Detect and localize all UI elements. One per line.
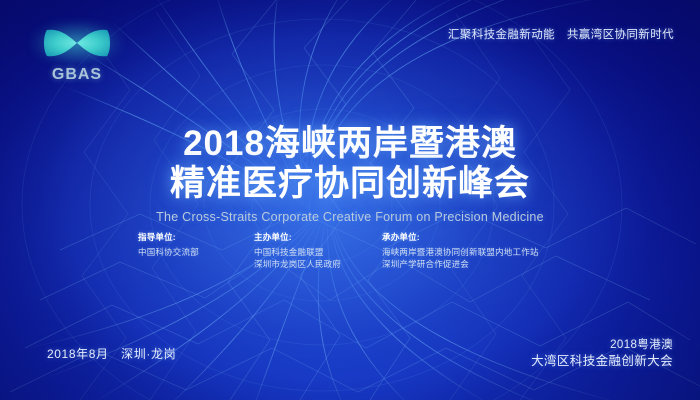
- footer-event-line-2: 大湾区科技金融创新大会: [531, 353, 673, 370]
- organizer-heading: 主办单位:: [254, 231, 382, 243]
- organizer-heading: 指导单位:: [138, 231, 254, 243]
- organizer-column-undertaker: 承办单位: 海峡两岸暨港澳协同创新联盟内地工作站 深圳产学研合作促进会: [382, 231, 539, 270]
- organizer-item: 深圳市龙岗区人民政府: [254, 258, 382, 270]
- title-block: 2018海峡两岸暨港澳 精准医疗协同创新峰会 The Cross-Straits…: [0, 124, 700, 224]
- organizer-column-host: 主办单位: 中国科技金融联盟 深圳市龙岗区人民政府: [254, 231, 382, 270]
- subtitle-english: The Cross-Straits Corporate Creative For…: [0, 210, 700, 224]
- organizer-item: 深圳产学研合作促进会: [382, 258, 539, 270]
- organizers-row: 指导单位: 中国科协交流部 主办单位: 中国科技金融联盟 深圳市龙岗区人民政府 …: [138, 231, 539, 270]
- slogan-text: 汇聚科技金融新动能 共赢湾区协同新时代: [448, 26, 674, 42]
- organizer-heading: 承办单位:: [382, 231, 539, 243]
- title-line-1: 2018海峡两岸暨港澳: [0, 124, 700, 164]
- gbas-logo: GBAS: [31, 22, 123, 84]
- organizer-item: 海峡两岸暨港澳协同创新联盟内地工作站: [382, 246, 539, 258]
- conference-poster: GBAS 汇聚科技金融新动能 共赢湾区协同新时代 2018海峡两岸暨港澳 精准医…: [0, 0, 700, 400]
- title-line-2: 精准医疗协同创新峰会: [0, 164, 700, 204]
- bowtie-infinity-icon: [31, 22, 123, 64]
- footer-event-name: 2018粤港澳 大湾区科技金融创新大会: [531, 337, 673, 370]
- organizer-column-guidance: 指导单位: 中国科协交流部: [138, 231, 254, 270]
- organizer-item: 中国科技金融联盟: [254, 246, 382, 258]
- footer-date-location: 2018年8月 深圳·龙岗: [47, 345, 176, 362]
- organizer-item: 中国科协交流部: [138, 246, 254, 258]
- footer-event-line-1: 2018粤港澳: [531, 337, 673, 353]
- logo-text: GBAS: [31, 66, 123, 84]
